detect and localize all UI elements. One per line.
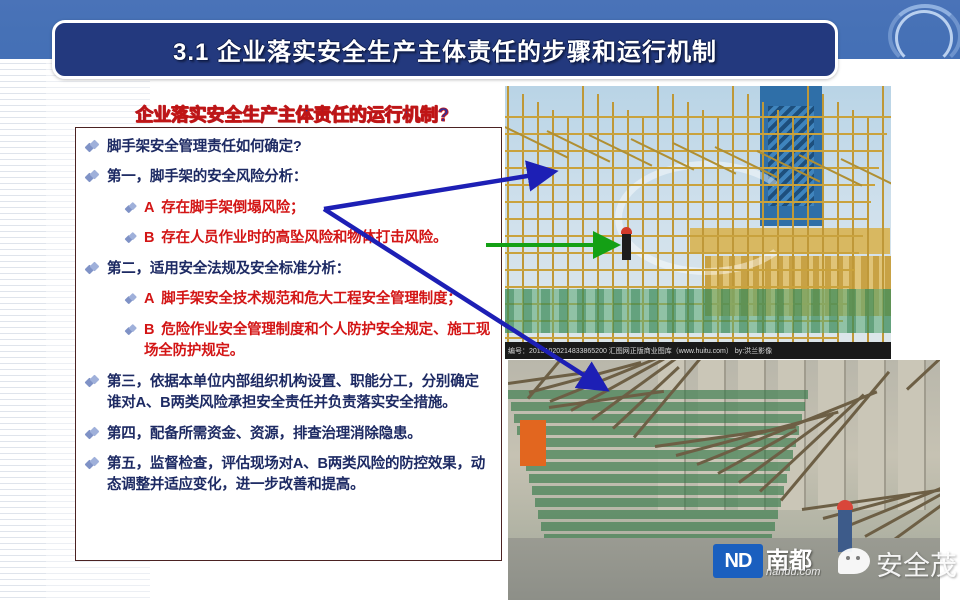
bullet-item: A存在脚手架倒塌风险；: [80, 198, 493, 219]
bullet-item: 第二，适用安全法规及安全标准分析：: [80, 259, 493, 280]
photo-caption-bar: 编号：20151020214833865200 汇图网正版商业图库（www.hu…: [505, 342, 891, 359]
diamond-bullet-icon: [126, 203, 137, 214]
bullet-marker: A: [144, 200, 154, 216]
diamond-bullet-icon: [86, 171, 100, 185]
bullet-text: B存在人员作业时的高坠风险和物体打击风险。: [144, 228, 447, 249]
bullet-item: B存在人员作业时的高坠风险和物体打击风险。: [80, 228, 493, 249]
bullet-text: B危险作业安全管理制度和个人防护安全规定、施工现场全防护规定。: [144, 320, 493, 363]
bullet-text: A存在脚手架倒塌风险；: [144, 198, 304, 219]
section-heading: 企业落实安全生产主体责任的运行机制?: [88, 101, 496, 127]
worker-figure: [622, 234, 631, 260]
slide-root: 3.1 企业落实安全生产主体责任的步骤和运行机制 企业落实安全生产主体责任的运行…: [0, 0, 960, 601]
slide-title-plaque: 3.1 企业落实安全生产主体责任的步骤和运行机制: [52, 20, 838, 79]
bullet-text: 脚手架安全管理责任如何确定?: [107, 137, 302, 158]
bullet-item: 脚手架安全管理责任如何确定?: [80, 137, 493, 158]
diamond-bullet-icon: [86, 141, 100, 155]
arc-decoration-inner-icon: [895, 10, 953, 66]
bullet-text: A脚手架安全技术规范和危大工程安全管理制度；: [144, 289, 462, 310]
orange-equipment: [520, 420, 546, 466]
content-box: 脚手架安全管理责任如何确定?第一，脚手架的安全风险分析：A存在脚手架倒塌风险；B…: [75, 127, 502, 561]
bullet-item: B危险作业安全管理制度和个人防护安全规定、施工现场全防护规定。: [80, 320, 493, 363]
diamond-bullet-icon: [86, 376, 100, 390]
bullet-text: 第三，依据本单位内部组织机构设置、职能分工，分别确定谁对A、B两类风险承担安全责…: [107, 372, 493, 415]
bullet-marker: A: [144, 291, 154, 307]
nandu-logo-url: nandu.com: [766, 566, 820, 578]
bullet-marker: B: [144, 322, 154, 338]
safety-net: [505, 289, 891, 333]
wechat-account-label: 安全茂: [876, 544, 957, 583]
wechat-icon: [838, 548, 870, 574]
bullet-item: A脚手架安全技术规范和危大工程安全管理制度；: [80, 289, 493, 310]
background-stripes-dark: [0, 57, 46, 601]
bullet-list: 脚手架安全管理责任如何确定?第一，脚手架的安全风险分析：A存在脚手架倒塌风险；B…: [76, 128, 501, 497]
diamond-bullet-icon: [126, 325, 137, 336]
diamond-bullet-icon: [126, 233, 137, 244]
bullet-body: 存在人员作业时的高坠风险和物体打击风险。: [161, 230, 447, 246]
diamond-bullet-icon: [86, 263, 100, 277]
bullet-item: 第五，监督检查，评估现场对A、B两类风险的防控效果，动态调整并适应变化，进一步改…: [80, 454, 493, 497]
photo-caption: 编号：20151020214833865200 汇图网正版商业图库（www.hu…: [505, 346, 772, 356]
bullet-body: 脚手架安全技术规范和危大工程安全管理制度；: [161, 291, 461, 307]
diamond-bullet-icon: [86, 428, 100, 442]
bullet-text: 第一，脚手架的安全风险分析：: [107, 167, 307, 188]
diamond-bullet-icon: [126, 294, 137, 305]
bullet-marker: B: [144, 230, 154, 246]
bystander-figure: [838, 510, 852, 552]
bullet-text: 第四，配备所需资金、资源，排查治理消除隐患。: [107, 424, 422, 445]
bullet-item: 第三，依据本单位内部组织机构设置、职能分工，分别确定谁对A、B两类风险承担安全责…: [80, 372, 493, 415]
nandu-logo-mark: ND: [713, 544, 763, 578]
slide-title: 3.1 企业落实安全生产主体责任的步骤和运行机制: [173, 32, 717, 67]
bullet-item: 第四，配备所需资金、资源，排查治理消除隐患。: [80, 424, 493, 445]
bullet-item: 第一，脚手架的安全风险分析：: [80, 167, 493, 188]
diamond-bullet-icon: [86, 458, 100, 472]
bullet-text: 第五，监督检查，评估现场对A、B两类风险的防控效果，动态调整并适应变化，进一步改…: [107, 454, 493, 497]
photo-scaffolding-construction: 编号：20151020214833865200 汇图网正版商业图库（www.hu…: [505, 86, 891, 359]
bullet-body: 存在脚手架倒塌风险；: [161, 200, 304, 216]
bullet-body: 危险作业安全管理制度和个人防护安全规定、施工现场全防护规定。: [144, 322, 490, 359]
bullet-text: 第二，适用安全法规及安全标准分析：: [107, 259, 350, 280]
